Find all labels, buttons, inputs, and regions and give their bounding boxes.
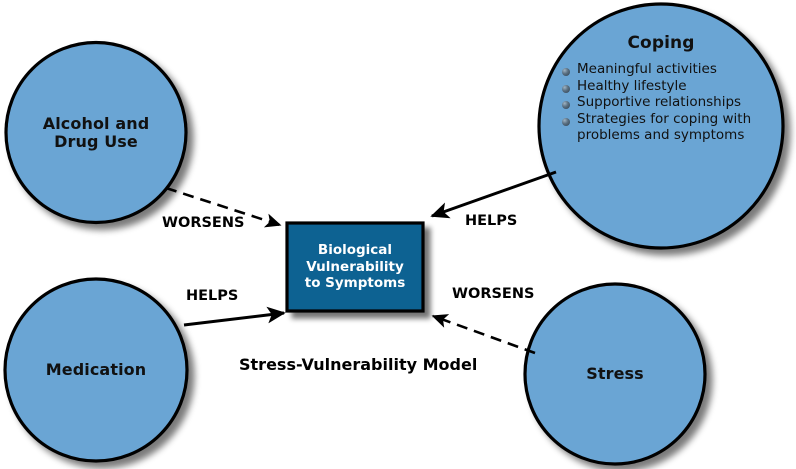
list-item: Healthy lifestyle (562, 79, 760, 95)
bullet-dot-icon (562, 118, 570, 126)
edge-coping-to-center (432, 172, 556, 216)
list-item: Meaningful activities (562, 62, 760, 78)
node-title-alcohol-drug-use: Alcohol and Drug Use (43, 115, 150, 151)
stress-vulnerability-diagram: Alcohol and Drug Use Coping Meaningful a… (0, 0, 796, 469)
edge-label-worsens-stress: WORSENS (452, 286, 534, 302)
node-title-line: Drug Use (43, 133, 150, 151)
diagram-caption: Stress-Vulnerability Model (239, 355, 477, 374)
edge-label-helps-medication: HELPS (186, 288, 238, 304)
center-box-label: Biological Vulnerability to Symptoms (305, 242, 406, 293)
bullet-dot-icon (562, 101, 570, 109)
node-coping[interactable]: Coping Meaningful activities Healthy lif… (539, 4, 783, 248)
node-title-medication: Medication (46, 361, 147, 379)
list-item-label: Meaningful activities (577, 61, 717, 77)
center-box-line: Vulnerability (305, 259, 406, 276)
node-alcohol-drug-use[interactable]: Alcohol and Drug Use (6, 43, 186, 223)
node-title-line: Alcohol and (43, 115, 150, 133)
edge-label-helps-coping: HELPS (465, 213, 517, 229)
edge-label-worsens-alcohol: WORSENS (162, 215, 244, 231)
list-item-label: Strategies for coping with problems and … (577, 111, 751, 143)
node-medication[interactable]: Medication (5, 279, 187, 461)
center-box-line: Biological (305, 242, 406, 259)
coping-bullet-list: Meaningful activities Healthy lifestyle … (562, 62, 760, 144)
list-item: Strategies for coping with problems and … (562, 112, 760, 143)
list-item: Supportive relationships (562, 95, 760, 111)
list-item-label: Supportive relationships (577, 94, 741, 110)
node-title-coping: Coping (627, 34, 694, 53)
bullet-dot-icon (562, 68, 570, 76)
center-box-line: to Symptoms (305, 275, 406, 292)
center-node-biological-vulnerability[interactable]: Biological Vulnerability to Symptoms (287, 223, 423, 311)
bullet-dot-icon (562, 85, 570, 93)
node-title-stress: Stress (586, 365, 644, 383)
list-item-label: Healthy lifestyle (577, 78, 687, 94)
edge-medication-to-center (184, 313, 284, 325)
node-stress[interactable]: Stress (525, 284, 705, 464)
edge-stress-to-center (433, 316, 535, 353)
